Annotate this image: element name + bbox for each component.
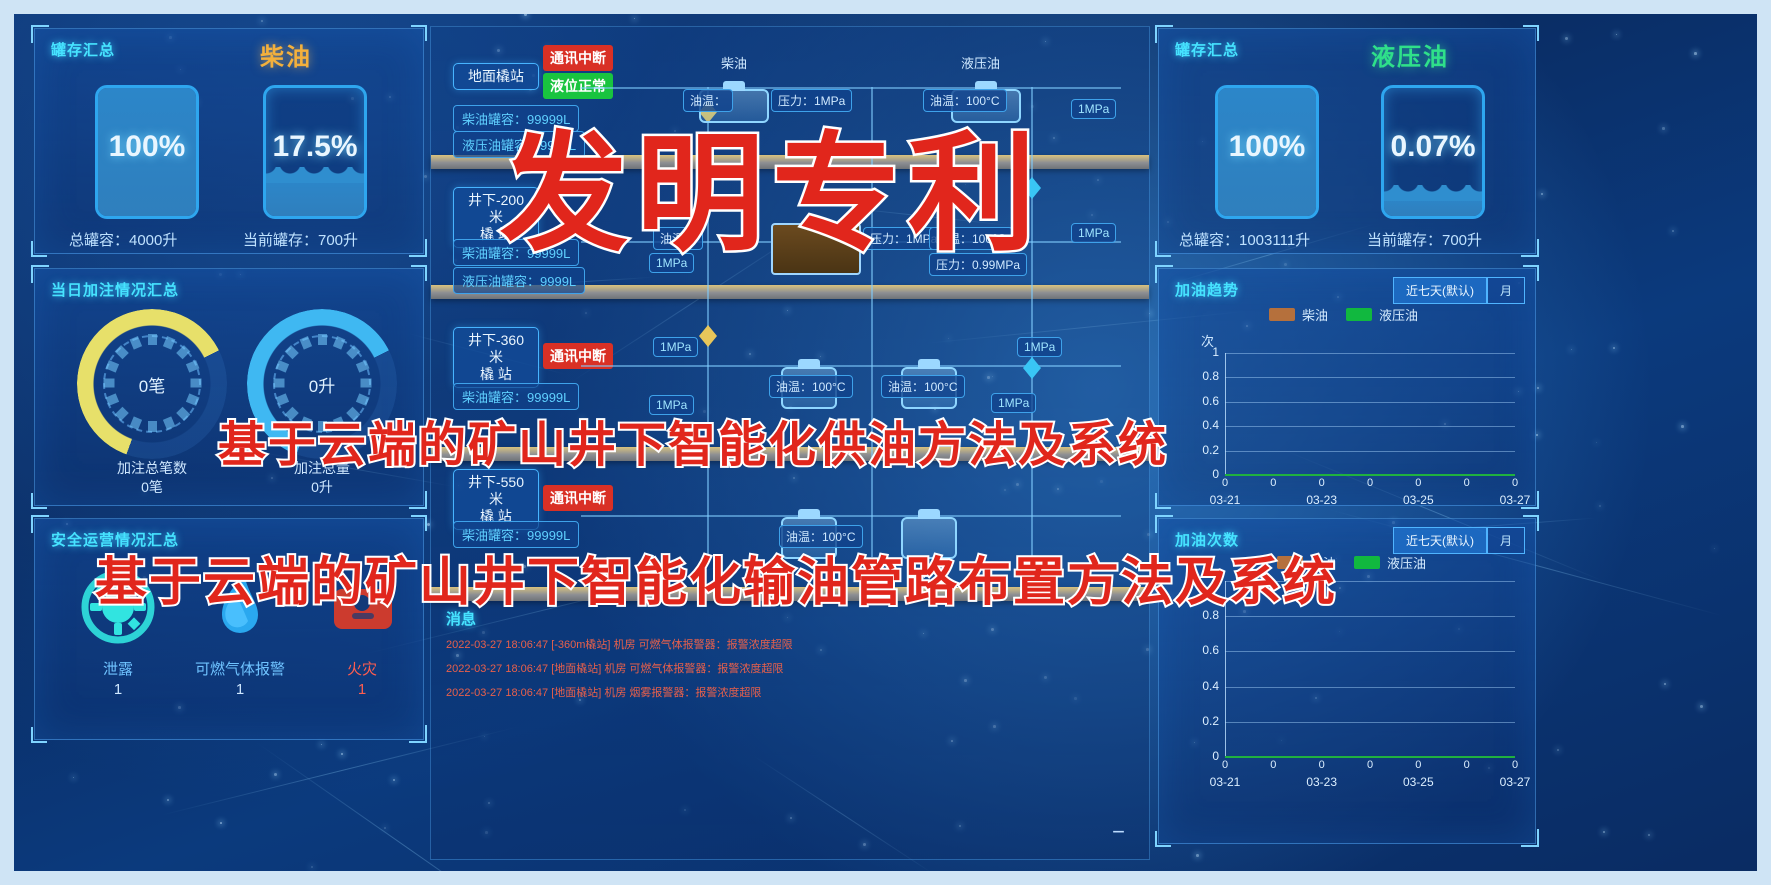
point-value-label: 0 <box>1307 477 1337 489</box>
point-value-label: 0 <box>1452 759 1482 771</box>
trend-legend-swatch-hydraulic <box>1346 308 1372 321</box>
safety-gas-alarm-count: 1 <box>175 681 305 698</box>
x-tick-label: 03-25 <box>1395 775 1441 789</box>
trend-legend-swatch-diesel <box>1269 308 1295 321</box>
left-tank-summary-panel: 罐存汇总 柴油 100% 17.5% 总罐容：4000升 当前罐存：700升 <box>34 28 424 254</box>
safety-fire-count: 1 <box>297 681 427 698</box>
count-range-week-button[interactable]: 近七天(默认) <box>1393 527 1487 554</box>
count-range-month-button[interactable]: 月 <box>1487 527 1525 554</box>
y-tick-label: 0.6 <box>1185 394 1219 408</box>
station-tag-360m[interactable]: 井下-360米 橇 站 <box>453 327 539 388</box>
right-tank-product-label: 液压油 <box>1371 37 1449 72</box>
station-550m-name-line1: 井下-550米 <box>462 474 530 508</box>
mpa-chip-360-right: 1MPa <box>1017 337 1062 357</box>
device-label-hydraulic-top: 液压油 <box>961 53 1000 72</box>
refuel-count-gauge: 0笔 <box>77 309 227 459</box>
safety-gas-alarm-label: 可燃气体报警 <box>175 658 305 679</box>
trend-legend-label-hydraulic: 液压油 <box>1379 305 1418 324</box>
watermark-line-2: 基于云端的矿山井下智能化输油管路布置方法及系统 <box>95 540 1337 615</box>
left-current-tank-gauge: 17.5% <box>263 85 367 219</box>
refuel-count-caption: 加注总笔数 <box>72 459 232 478</box>
point-value-label: 0 <box>1500 477 1530 489</box>
x-tick-label: 03-21 <box>1202 493 1248 507</box>
pipe-main-top <box>581 87 1121 89</box>
left-tank-panel-title: 罐存汇总 <box>51 39 115 60</box>
left-total-capacity-label: 总罐容：4000升 <box>69 229 177 250</box>
right-current-stock-label: 当前罐存：700升 <box>1367 229 1482 250</box>
point-value-label: 0 <box>1210 477 1240 489</box>
y-tick-label: 0.2 <box>1185 443 1219 457</box>
y-tick-label: 0.4 <box>1185 679 1219 693</box>
station-360m-name-line1: 井下-360米 <box>462 332 530 366</box>
point-value-label: 0 <box>1258 759 1288 771</box>
refuel-volume-caption-value: 0升 <box>242 478 402 497</box>
point-value-label: 0 <box>1210 759 1240 771</box>
refuel-count-gauge-value: 0笔 <box>77 309 227 459</box>
point-value-label: 0 <box>1403 477 1433 489</box>
right-tank-summary-panel: 罐存汇总 液压油 100% 0.07% 总罐容：1003111升 当前罐存：70… <box>1158 28 1536 254</box>
left-current-stock-label: 当前罐存：700升 <box>243 229 358 250</box>
watermark-title: 发明专利 <box>500 90 1044 275</box>
count-legend-swatch-hydraulic <box>1354 556 1380 569</box>
message-log-panel: 消息 2022-03-27 18:06:47 [-360m橇站] 机房 可燃气体… <box>430 600 1150 860</box>
station-550m-comm-status-badge: 通讯中断 <box>543 485 613 511</box>
y-tick-label: 1 <box>1185 345 1219 359</box>
message-row: 2022-03-27 18:06:47 [地面橇站] 机房 可燃气体报警器：报警… <box>446 660 783 676</box>
x-tick-label: 03-25 <box>1395 493 1441 507</box>
trend-legend-label-diesel: 柴油 <box>1302 305 1328 324</box>
point-value-label: 0 <box>1258 477 1288 489</box>
x-tick-label: 03-21 <box>1202 775 1248 789</box>
device-label-diesel-top: 柴油 <box>721 53 747 72</box>
count-range-buttons[interactable]: 近七天(默认) 月 <box>1393 527 1525 554</box>
trend-legend-item-hydraulic[interactable]: 液压油 <box>1346 305 1418 324</box>
count-legend-label-hydraulic: 液压油 <box>1387 553 1426 572</box>
trend-range-month-button[interactable]: 月 <box>1487 277 1525 304</box>
trend-plot-area: 00.20.40.60.81000000003-2103-2303-2503-2… <box>1225 353 1515 475</box>
count-legend-item-hydraulic[interactable]: 液压油 <box>1354 553 1426 572</box>
x-tick-label: 03-23 <box>1299 493 1345 507</box>
station-360m-name-line2: 橇 站 <box>462 366 530 383</box>
right-tank-panel-title: 罐存汇总 <box>1175 39 1239 60</box>
trend-range-buttons[interactable]: 近七天(默认) 月 <box>1393 277 1525 304</box>
left-total-tank-value: 100% <box>98 130 196 164</box>
watermark-line-1: 基于云端的矿山井下智能化供油方法及系统 <box>218 405 1168 475</box>
y-tick-label: 0.4 <box>1185 418 1219 432</box>
message-row: 2022-03-27 18:06:47 [地面橇站] 机房 烟雾报警器：报警浓度… <box>446 684 761 700</box>
safety-leak-count: 1 <box>53 681 183 698</box>
right-total-capacity-label: 总罐容：1003111升 <box>1179 229 1310 250</box>
point-value-label: 0 <box>1355 759 1385 771</box>
point-value-label: 0 <box>1403 759 1433 771</box>
point-value-label: 0 <box>1500 759 1530 771</box>
left-total-tank-gauge: 100% <box>95 85 199 219</box>
right-total-tank-gauge: 100% <box>1215 85 1319 219</box>
point-value-label: 0 <box>1452 477 1482 489</box>
mpa-chip-top-right: 1MPa <box>1071 99 1116 119</box>
station-tag-ground[interactable]: 地面橇站 <box>453 63 539 90</box>
point-value-label: 0 <box>1307 759 1337 771</box>
trend-range-week-button[interactable]: 近七天(默认) <box>1393 277 1487 304</box>
left-current-tank-value: 17.5% <box>266 130 364 164</box>
point-value-label: 0 <box>1355 477 1385 489</box>
info-temp-360-right: 油温：100°C <box>881 375 965 398</box>
x-tick-label: 03-27 <box>1492 493 1538 507</box>
ground-comm-status-badge: 通讯中断 <box>543 45 613 71</box>
right-current-tank-gauge: 0.07% <box>1381 85 1485 219</box>
trend-legend-item-diesel[interactable]: 柴油 <box>1269 305 1328 324</box>
y-tick-label: 0.8 <box>1185 369 1219 383</box>
x-tick-label: 03-27 <box>1492 775 1538 789</box>
info-temp-360: 油温：100°C <box>769 375 853 398</box>
trend-panel-title: 加油趋势 <box>1175 279 1239 300</box>
left-tank-product-label: 柴油 <box>260 37 312 72</box>
refuel-trend-panel: 加油趋势 近七天(默认) 月 柴油 液压油 次 00.20.40.60.8100… <box>1158 268 1536 506</box>
refuel-count-caption-value: 0笔 <box>72 478 232 497</box>
x-tick-label: 03-23 <box>1299 775 1345 789</box>
dashboard-root: 罐存汇总 柴油 100% 17.5% 总罐容：4000升 当前罐存：700升 当… <box>0 0 1771 885</box>
pipe-main-550 <box>581 515 1121 517</box>
trend-legend: 柴油 液压油 <box>1269 305 1418 324</box>
y-tick-label: 0.2 <box>1185 714 1219 728</box>
mpa-chip-200-right: 1MPa <box>1071 223 1116 243</box>
safety-leak-label: 泄露 <box>53 658 183 679</box>
safety-fire-label: 火灾 <box>297 658 427 679</box>
y-tick-label: 0.6 <box>1185 643 1219 657</box>
mpa-chip-360-left: 1MPa <box>653 337 698 357</box>
right-current-tank-value: 0.07% <box>1384 130 1482 164</box>
refuel-panel-title: 当日加注情况汇总 <box>51 279 179 300</box>
message-row: 2022-03-27 18:06:47 [-360m橇站] 机房 可燃气体报警器… <box>446 636 793 652</box>
right-total-tank-value: 100% <box>1218 130 1316 164</box>
